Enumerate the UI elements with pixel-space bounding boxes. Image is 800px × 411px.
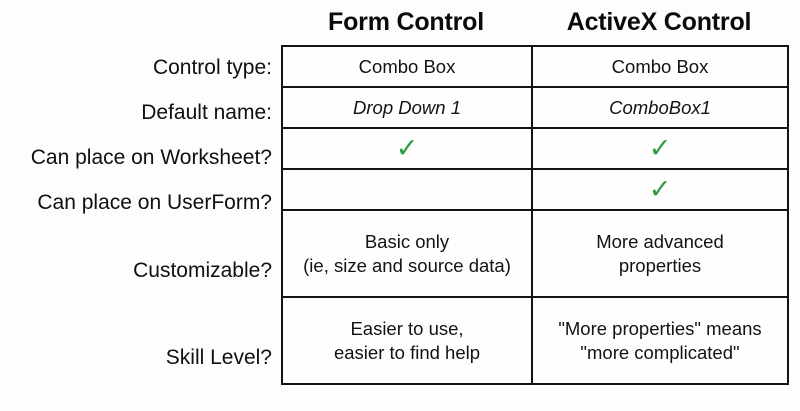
cell-userform-activex: ✓ <box>532 169 788 210</box>
comparison-table-page: Form Control ActiveX Control Control typ… <box>0 0 800 411</box>
row-label-default-name: Default name: <box>0 90 272 135</box>
checkmark-icon: ✓ <box>649 135 672 162</box>
table-header-row: Form Control ActiveX Control <box>0 0 800 45</box>
table-row: Combo Box Combo Box <box>282 46 788 87</box>
cell-control-type-form: Combo Box <box>282 46 532 87</box>
cell-customizable-activex: More advanced properties <box>532 210 788 297</box>
column-header-form-control: Form Control <box>281 0 531 45</box>
cell-default-name-form: Drop Down 1 <box>282 87 532 128</box>
cell-customizable-form: Basic only (ie, size and source data) <box>282 210 532 297</box>
table-row: ✓ <box>282 169 788 210</box>
comparison-table: Combo Box Combo Box Drop Down 1 ComboBox… <box>281 45 789 385</box>
cell-default-name-activex: ComboBox1 <box>532 87 788 128</box>
table-row: Easier to use, easier to find help "More… <box>282 297 788 384</box>
row-label-control-type: Control type: <box>0 45 272 90</box>
cell-worksheet-activex: ✓ <box>532 128 788 169</box>
checkmark-icon: ✓ <box>649 176 672 203</box>
cell-skill-level-activex: "More properties" means "more complicate… <box>532 297 788 384</box>
row-label-skill-level: Skill Level? <box>0 316 272 399</box>
cell-worksheet-form: ✓ <box>282 128 532 169</box>
cell-control-type-activex: Combo Box <box>532 46 788 87</box>
table-row: Basic only (ie, size and source data) Mo… <box>282 210 788 297</box>
row-label-column: Control type: Default name: Can place on… <box>0 45 281 399</box>
column-header-activex-control: ActiveX Control <box>531 0 787 45</box>
checkmark-icon: ✓ <box>396 135 419 162</box>
row-label-can-place-on-worksheet: Can place on Worksheet? <box>0 135 272 180</box>
header-label-spacer <box>0 0 281 45</box>
row-label-can-place-on-userform: Can place on UserForm? <box>0 180 272 225</box>
table-row: ✓ ✓ <box>282 128 788 169</box>
cell-skill-level-form: Easier to use, easier to find help <box>282 297 532 384</box>
table-row: Drop Down 1 ComboBox1 <box>282 87 788 128</box>
row-label-customizable: Customizable? <box>0 225 272 316</box>
cell-userform-form <box>282 169 532 210</box>
